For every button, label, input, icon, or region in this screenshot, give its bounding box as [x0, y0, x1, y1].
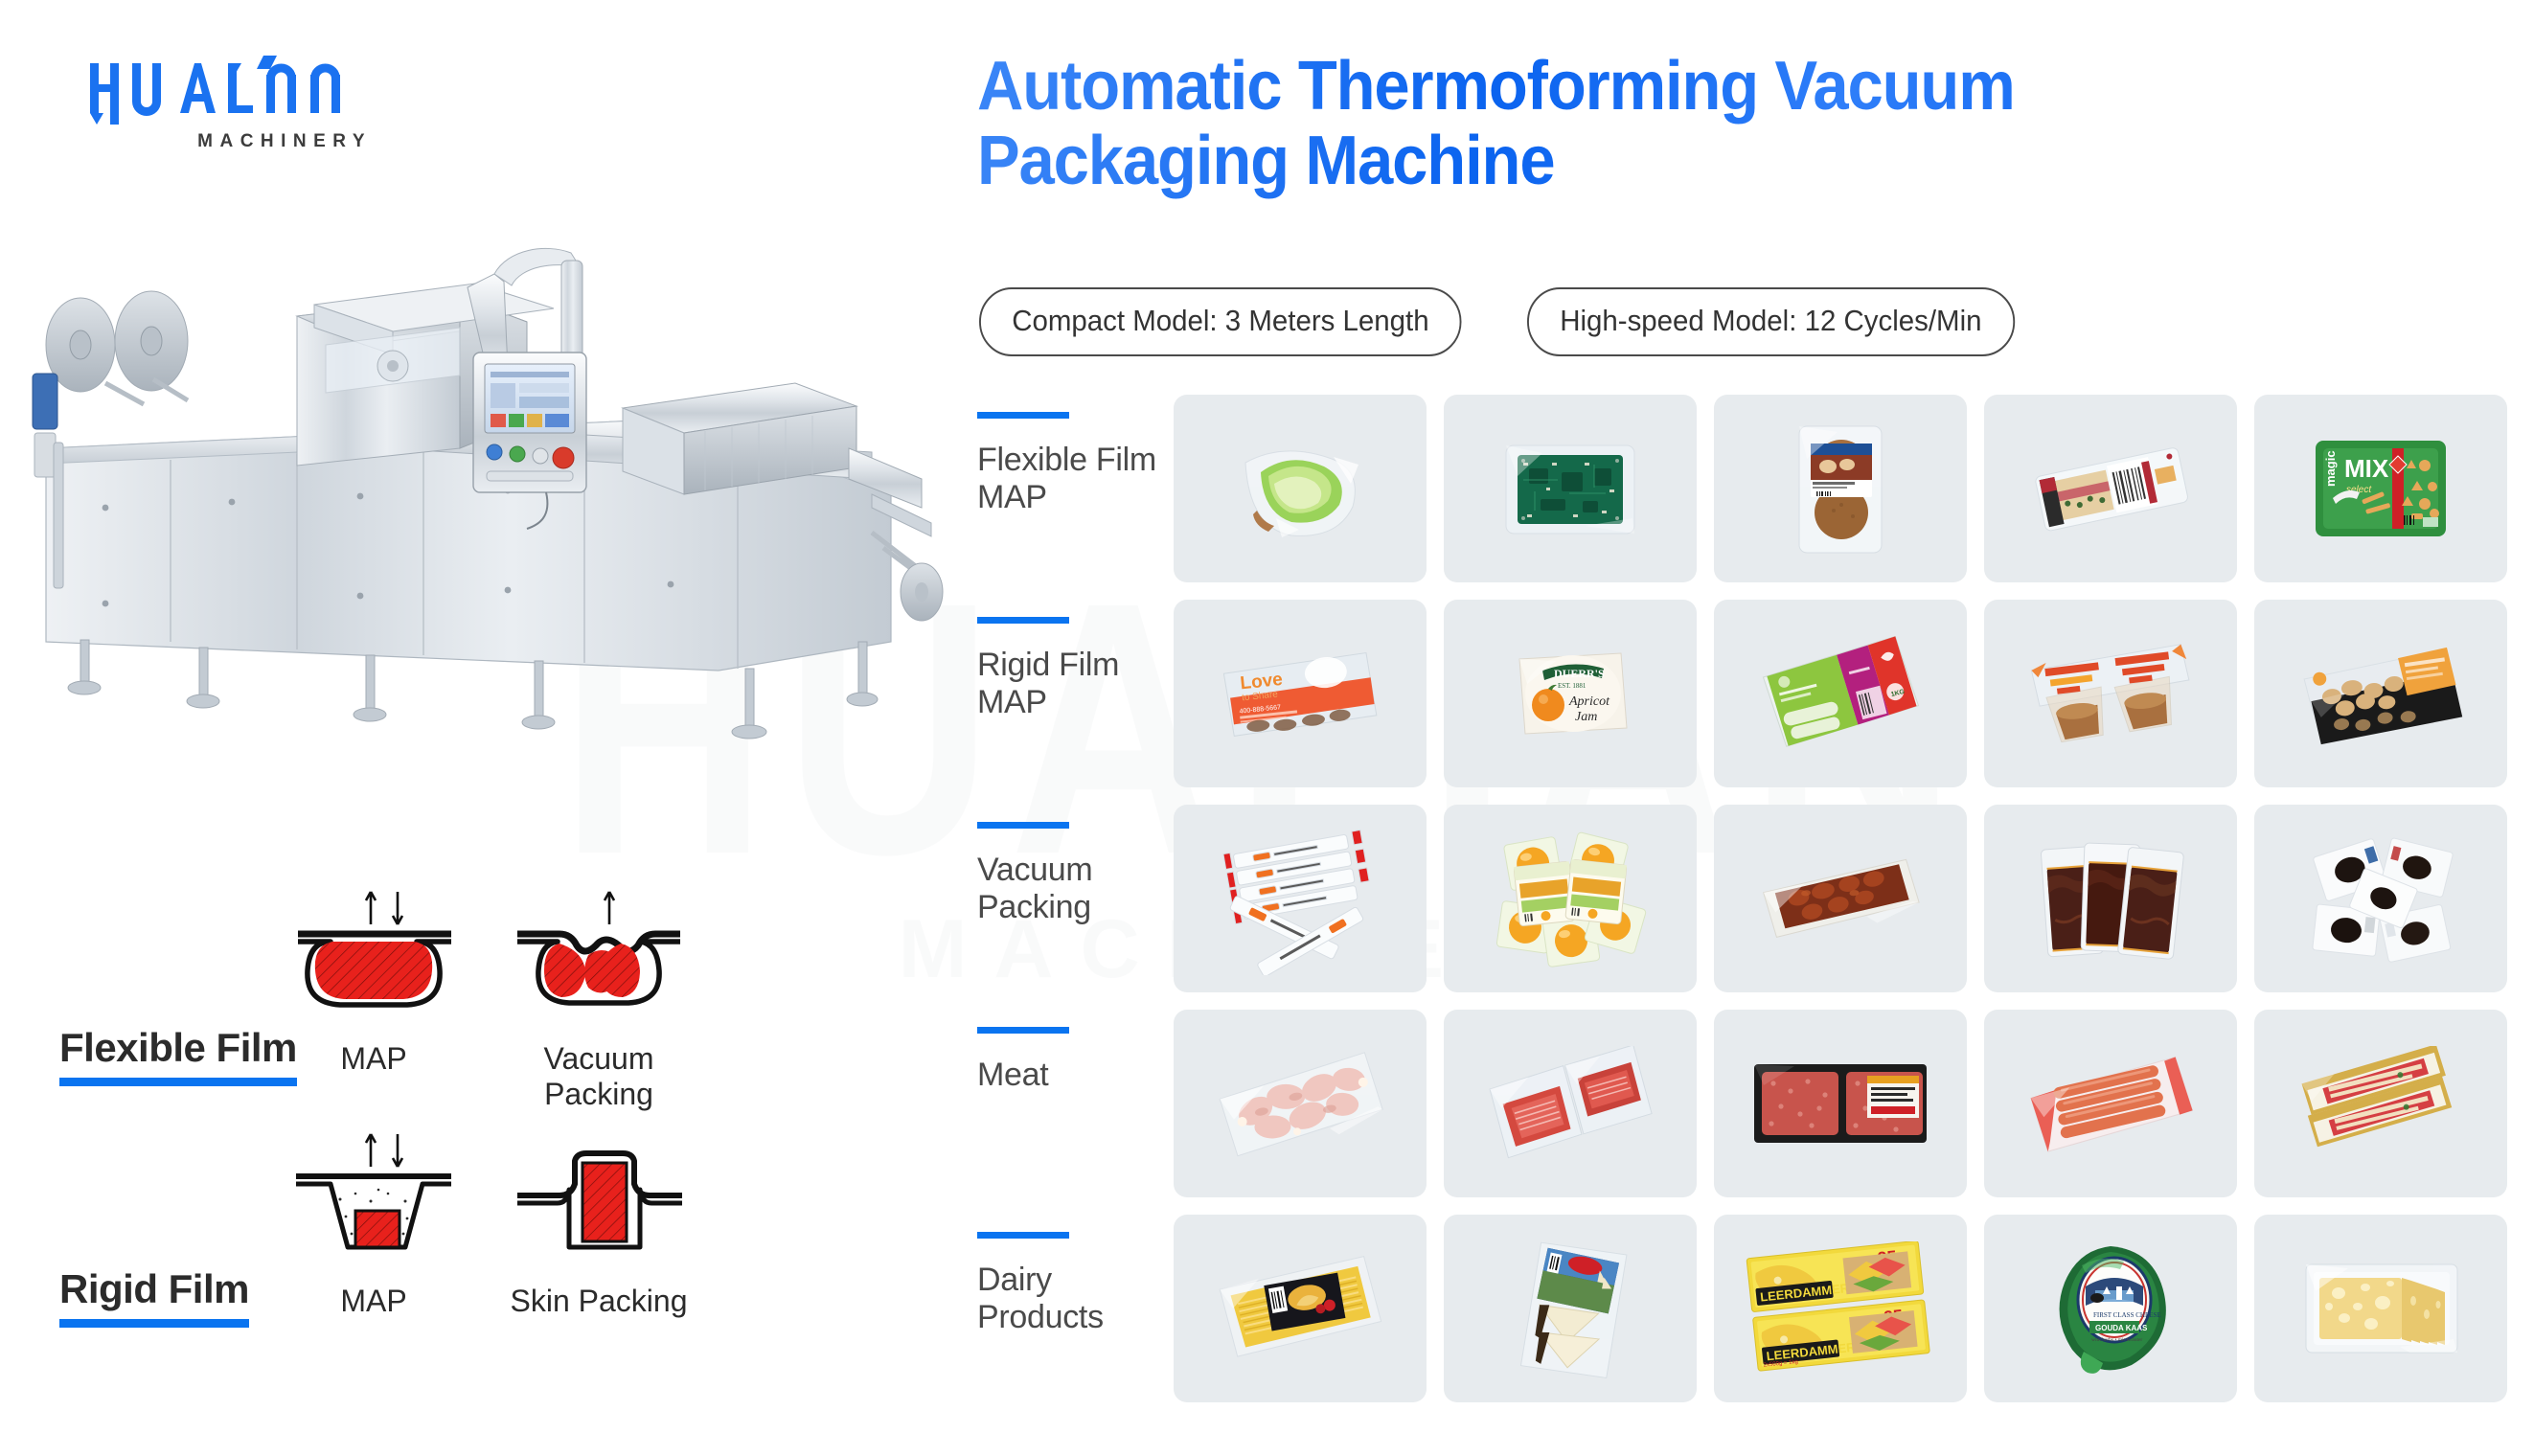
product-card-shredded-cheese-tray — [1174, 1215, 1427, 1402]
product-card-dessert-four-cup — [1984, 600, 2237, 787]
svg-text:Jam: Jam — [1575, 710, 1597, 724]
diagram-flexible-vacuum: Vacuum Packing — [489, 886, 709, 1112]
logo-subtitle: MACHINERY — [88, 131, 376, 152]
row-accent-rule — [977, 1027, 1069, 1034]
product-card-nut-tray — [2254, 600, 2507, 787]
svg-text:FIRST CLASS CHEESE: FIRST CLASS CHEESE — [2093, 1311, 2161, 1319]
application-rows: Flexible Film MAP — [977, 395, 2534, 1420]
badge-compact-model: Compact Model: 3 Meters Length — [979, 287, 1462, 356]
product-marketing-page: HUALIAN MACHINERY — [0, 0, 2534, 1456]
diagram-rigid-skin: Skin Packing — [489, 1128, 709, 1319]
machine-photo — [10, 192, 958, 747]
product-card-salted-egg-yolks — [1444, 805, 1697, 992]
application-row: Rigid Film MAP Love to Share 400-888-5 — [977, 600, 2534, 805]
row-cards — [1174, 1010, 2534, 1197]
flexible-map-illustration — [263, 886, 484, 1030]
product-card-leerdammer-slices: LEERDAMMER 25 10x10 cm — [1714, 1215, 1967, 1402]
product-card-gouda-cheese-wheel: FIRST CLASS CHEESE GOUDA KAAS with herbs… — [1984, 1215, 2237, 1402]
packaging-principle-diagrams: Flexible Film Rigid Film — [38, 862, 948, 1360]
product-card-chicken-parts — [1174, 1010, 1427, 1197]
product-card-swiss-cheese-slices — [2254, 1215, 2507, 1402]
page-title: Automatic Thermoforming Vacuum Packaging… — [977, 50, 2206, 199]
brand-logo: MACHINERY — [88, 56, 376, 152]
svg-text:MIX: MIX — [2344, 454, 2389, 483]
product-card-apricot-jam-portion: DUERR'S EST. 1881 Apricot Jam — [1444, 600, 1697, 787]
application-row: Dairy Products — [977, 1215, 2534, 1420]
model-badges: Compact Model: 3 Meters Length High-spee… — [979, 287, 2041, 356]
row-cards: magic MIX select — [1174, 395, 2534, 582]
diagram-caption-rigid-map: MAP — [263, 1284, 484, 1319]
row-name: Dairy Products — [977, 1262, 1174, 1337]
row-label-rigid-film-map: Rigid Film MAP — [977, 600, 1174, 722]
product-card-ground-beef-pack — [1714, 1010, 1967, 1197]
product-card-love-to-share-tray: Love to Share 400-888-5667 — [1174, 600, 1427, 787]
logo-wordmark-icon — [88, 56, 376, 129]
svg-text:GOUDA KAAS: GOUDA KAAS — [2095, 1324, 2148, 1332]
product-card-wrapped-preserved-items — [2254, 805, 2507, 992]
row-label-vacuum-packing: Vacuum Packing — [977, 805, 1174, 927]
row-label-dairy-products: Dairy Products — [977, 1215, 1174, 1337]
diagram-rigid-map: MAP — [263, 1128, 484, 1319]
row-accent-rule — [977, 617, 1069, 624]
svg-text:with herbs • mit Kräuter: with herbs • mit Kräuter — [2091, 1337, 2142, 1343]
film-type-label-flexible: Flexible Film — [59, 1025, 297, 1086]
row-name: Vacuum Packing — [977, 852, 1174, 927]
row-cards: LEERDAMMER 25 10x10 cm — [1174, 1215, 2534, 1402]
row-name: Rigid Film MAP — [977, 647, 1174, 722]
product-card-vegetable-tray: 1KG — [1714, 600, 1967, 787]
diagram-caption-rigid-skin: Skin Packing — [489, 1284, 709, 1319]
application-row: Meat — [977, 1010, 2534, 1215]
row-accent-rule — [977, 822, 1069, 829]
product-card-hot-dog-sausages — [1984, 1010, 2237, 1197]
product-card-packaged-lettuce — [1174, 395, 1427, 582]
rigid-map-illustration — [263, 1128, 484, 1272]
row-name: Meat — [977, 1057, 1174, 1094]
film-type-label-rigid: Rigid Film — [59, 1266, 249, 1328]
product-card-magic-mix-snack: magic MIX select — [2254, 395, 2507, 582]
diagram-caption-flexible-map: MAP — [263, 1041, 484, 1077]
svg-text:Apricot: Apricot — [1568, 694, 1610, 709]
product-card-cheese-wedges-tray — [1444, 1215, 1697, 1402]
flexible-vacuum-illustration — [489, 886, 709, 1030]
product-card-bread-rolls-pack — [1714, 395, 1967, 582]
application-row: Flexible Film MAP — [977, 395, 2534, 600]
right-column: Automatic Thermoforming Vacuum Packaging… — [977, 0, 2534, 1456]
diagram-flexible-map: MAP — [263, 886, 484, 1077]
rigid-skin-illustration — [489, 1128, 709, 1272]
row-accent-rule — [977, 412, 1069, 419]
svg-text:magic: magic — [2323, 450, 2338, 487]
product-card-bacon-pack — [2254, 1010, 2507, 1197]
product-card-braised-meat-pouch — [1714, 805, 1967, 992]
product-card-wrapped-sandwich — [1984, 395, 2237, 582]
row-label-flexible-film-map: Flexible Film MAP — [977, 395, 1174, 517]
product-card-medical-syringes — [1174, 805, 1427, 992]
row-accent-rule — [977, 1232, 1069, 1239]
svg-text:DUERR'S: DUERR'S — [1554, 667, 1605, 680]
diagram-caption-flexible-vacuum: Vacuum Packing — [489, 1041, 709, 1112]
row-label-meat: Meat — [977, 1010, 1174, 1094]
product-card-sauce-pouches — [1984, 805, 2237, 992]
product-card-beef-slices-tray — [1444, 1010, 1697, 1197]
row-cards — [1174, 805, 2534, 992]
product-card-pcb-circuit-board — [1444, 395, 1697, 582]
row-name: Flexible Film MAP — [977, 442, 1174, 517]
svg-text:EST. 1881: EST. 1881 — [1558, 682, 1587, 690]
row-cards: Love to Share 400-888-5667 — [1174, 600, 2534, 787]
badge-highspeed-model: High-speed Model: 12 Cycles/Min — [1527, 287, 2015, 356]
application-row: Vacuum Packing — [977, 805, 2534, 1010]
left-column: MACHINERY — [0, 0, 968, 1456]
